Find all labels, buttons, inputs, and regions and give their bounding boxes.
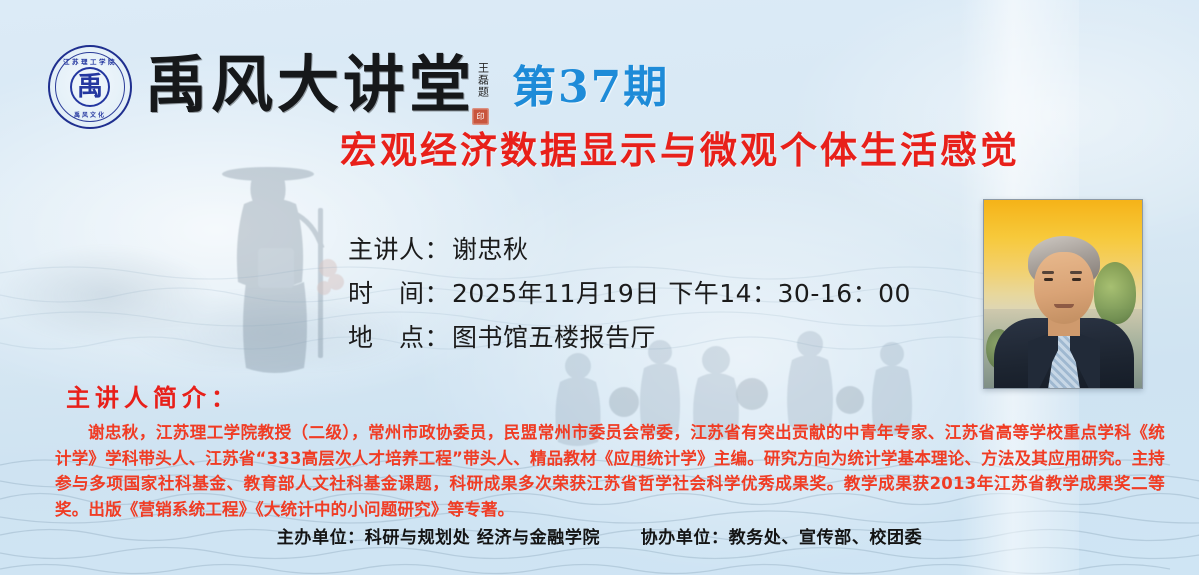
footer-cohost-units: 协办单位：教务处、宣传部、校团委 [641,528,923,548]
calligraphy-title: 禹风大讲堂 [145,48,475,122]
detail-row-speaker: 主讲人： 谢忠秋 [348,228,911,272]
biography-heading: 主讲人简介： [66,382,240,414]
background-yu-the-great-figure [196,148,346,383]
calligrapher-signature: 王磊题 印 [463,58,503,130]
portrait-eye-right [1072,278,1081,281]
logo-arc-bottom-text: 禹风文化 [50,110,130,119]
poster-footer: 主办单位：科研与规划处 经济与金融学院 协办单位：教务处、宣传部、校团委 [0,525,1199,551]
portrait-mouth [1054,304,1074,308]
portrait-eyebrow-left [1042,271,1054,274]
detail-row-time: 时 间： 2025年11月19日 下午14：30-16：00 [348,272,911,316]
biography-text: 谢忠秋，江苏理工学院教授（二级），常州市政协委员，民盟常州市委员会常委，江苏省有… [55,420,1165,522]
detail-label-speaker: 主讲人： [348,228,452,272]
portrait-eyebrow-right [1070,271,1082,274]
footer-host-units: 主办单位：科研与规划处 经济与金融学院 [277,528,600,548]
detail-value-speaker: 谢忠秋 [452,228,529,272]
portrait-tree [1094,262,1136,324]
detail-label-time: 时 间： [348,272,452,316]
signature-text: 王磊题 [478,58,489,102]
speaker-portrait [983,199,1143,389]
portrait-face [1034,252,1094,324]
detail-value-location: 图书馆五楼报告厅 [452,316,656,360]
university-seal-logo: 江苏理工学院 禹 禹风文化 [48,45,132,129]
detail-value-time: 2025年11月19日 下午14：30-16：00 [452,272,911,316]
event-details: 主讲人： 谢忠秋 时 间： 2025年11月19日 下午14：30-16：00 … [348,228,911,360]
logo-arc-top-text: 江苏理工学院 [50,56,130,66]
red-seal-stamp: 印 [472,108,489,125]
lecture-subtitle: 宏观经济数据显示与微观个体生活感觉 [340,128,1020,174]
portrait-eye-left [1044,278,1053,281]
lecture-poster: 江苏理工学院 禹 禹风文化 禹风大讲堂 王磊题 印 第37期 宏观经济数据显示与… [0,0,1199,575]
detail-row-location: 地 点： 图书馆五楼报告厅 [348,316,911,360]
logo-center-glyph: 禹 [70,67,110,107]
detail-label-location: 地 点： [348,316,452,360]
issue-number-label: 第37期 [512,62,669,114]
